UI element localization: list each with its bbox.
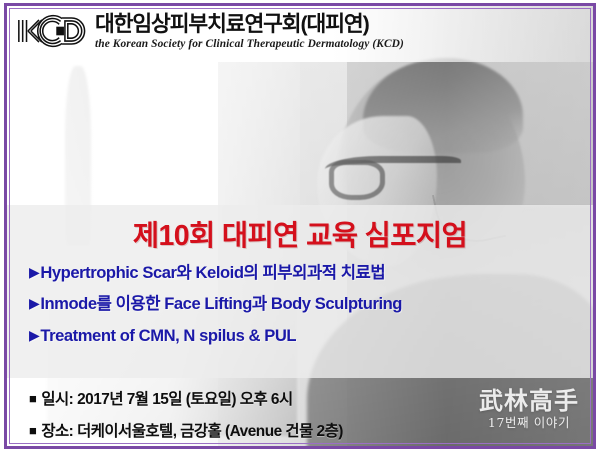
list-item: ▶Treatment of CMN, N spilus & PUL <box>29 328 593 345</box>
kcd-logo-icon <box>15 11 87 51</box>
header-text-block: 대한임상피부치료연구회(대피연) the Korean Society for … <box>95 11 404 50</box>
poster-canvas: 대한임상피부치료연구회(대피연) the Korean Society for … <box>7 6 593 446</box>
square-bullet-icon: ■ <box>29 423 36 438</box>
poster-header: 대한임상피부치료연구회(대피연) the Korean Society for … <box>7 6 593 62</box>
list-item: ▶Hypertrophic Scar와 Keloid의 피부외과적 치료법 <box>29 265 593 282</box>
watermark-sub: 17번째 이야기 <box>479 417 579 430</box>
list-item: ▶Inmode를 이용한 Face Lifting과 Body Sculptur… <box>29 296 593 313</box>
organization-name-ko: 대한임상피부치료연구회(대피연) <box>95 12 404 37</box>
session-list: ▶Hypertrophic Scar와 Keloid의 피부외과적 치료법 ▶I… <box>7 265 593 345</box>
watermark-main: 武林高手 <box>479 389 579 413</box>
organization-name-en: the Korean Society for Clinical Therapeu… <box>95 38 404 50</box>
triangle-right-icon: ▶ <box>29 264 39 280</box>
triangle-right-icon: ▶ <box>29 327 39 343</box>
watermark: 武林高手 17번째 이야기 <box>479 389 579 430</box>
session-label: Inmode를 이용한 Face Lifting과 Body Sculpturi… <box>40 294 402 313</box>
session-label: Treatment of CMN, N spilus & PUL <box>40 326 296 345</box>
page-title: 제10회 대피연 교육 심포지엄 <box>7 222 593 251</box>
event-venue-label: 장소: 더케이서울호텔, 금강홀 (Avenue 건물 2층) <box>41 423 343 440</box>
triangle-right-icon: ▶ <box>29 295 39 311</box>
event-datetime-label: 일시: 2017년 7월 15일 (토요일) 오후 6시 <box>41 391 292 408</box>
symposium-poster: 대한임상피부치료연구회(대피연) the Korean Society for … <box>0 0 600 453</box>
square-bullet-icon: ■ <box>29 391 36 406</box>
poster-main-content: 제10회 대피연 교육 심포지엄 ▶Hypertrophic Scar와 Kel… <box>7 205 593 359</box>
session-label: Hypertrophic Scar와 Keloid의 피부외과적 치료법 <box>40 263 385 282</box>
